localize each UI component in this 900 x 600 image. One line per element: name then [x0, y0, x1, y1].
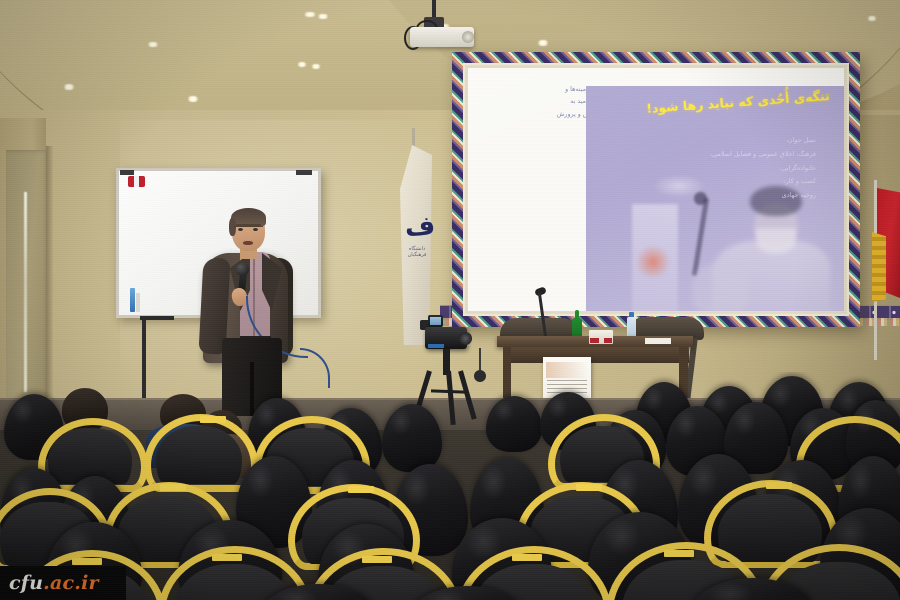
photograph-scene: دشمن در حال تقویت خود در این زمینه‌ها و … — [0, 0, 900, 600]
slide-list-item: نسل جوان، — [620, 134, 816, 148]
projection-screen: دشمن در حال تقویت خود در این زمینه‌ها و … — [468, 68, 844, 311]
slide-title: تنگه‌ی أُحُدی که نباید رها شود! — [630, 87, 831, 119]
ceiling-spotlight — [186, 96, 200, 102]
speaker-mouth — [243, 241, 253, 245]
watermark-primary: cfu — [9, 572, 43, 594]
presenter-table-skirt — [503, 347, 689, 363]
whiteboard-clip-left — [120, 170, 134, 175]
white-standing-banner — [400, 145, 432, 345]
slide-list-item: کسب و کار، — [620, 175, 816, 189]
tissue-box-label — [590, 338, 599, 343]
chair-label-tag — [200, 416, 226, 423]
camera-monitor-screen — [430, 317, 441, 325]
paper-on-table — [645, 338, 671, 344]
slide-figure-beard — [756, 228, 796, 254]
camera-blue-strip — [428, 344, 444, 348]
slide-flag-emblem — [636, 244, 670, 280]
chair-label-tag — [348, 486, 374, 493]
speaker-eye — [238, 228, 243, 231]
chair-label-tag — [766, 482, 792, 489]
camera-lens — [459, 332, 472, 345]
whiteboard-marker — [130, 288, 135, 312]
chair-label-tag — [512, 554, 542, 561]
watermark-secondary: .ac.ir — [43, 572, 99, 594]
slide-list-item: خانواده‌گرایی، — [620, 162, 816, 176]
ceiling-spotlight — [296, 62, 308, 67]
banner-logo: ف — [404, 209, 430, 244]
slide-figure-arm — [692, 264, 748, 311]
slide-list: نسل جوان، فرهنگ، اخلاق عمومی و فضایل اسل… — [620, 134, 816, 203]
audience-member — [486, 396, 542, 452]
chair-label-tag — [576, 484, 602, 491]
whiteboard-eraser — [136, 293, 140, 312]
whiteboard-sticker — [128, 176, 145, 187]
projector-lens — [462, 31, 474, 43]
ceiling-spotlight — [62, 84, 76, 90]
ceiling-spotlight — [310, 64, 322, 69]
tissue-box-label — [604, 338, 612, 343]
ceiling-spotlight — [536, 40, 550, 46]
slide-photo-panel: تنگه‌ی أُحُدی که نباید رها شود! نسل جوان… — [586, 86, 844, 311]
slide-list-item: فرهنگ، اخلاق عمومی و فضایل اسلامی، — [620, 148, 816, 162]
hanging-microphone-cord — [479, 348, 481, 372]
speaker-eye — [253, 228, 258, 231]
seated-audience — [0, 372, 900, 600]
whiteboard-clip-right — [296, 170, 312, 175]
banner-subtitle: دانشگاه فرهنگیان — [404, 246, 430, 258]
slide-list-item: روحیه جهادی — [620, 189, 816, 203]
chair-label-tag — [160, 484, 186, 491]
slide-microphone-stem — [692, 198, 709, 276]
chair-label-tag — [72, 558, 102, 565]
ceiling-spotlight — [146, 42, 160, 47]
watermark: cfu.ac.ir — [0, 566, 126, 600]
chair-label-tag — [212, 554, 242, 561]
wall-light-strip — [24, 192, 27, 392]
watermark-text: cfu.ac.ir — [0, 572, 99, 594]
chair-label-tag — [362, 556, 392, 563]
audience-member — [382, 404, 442, 472]
flag-gold-fringe — [872, 232, 886, 302]
ceiling-spotlight — [316, 14, 330, 19]
microphone-head — [236, 263, 249, 276]
chair-seat — [156, 426, 242, 484]
ceiling-spotlight — [866, 16, 878, 21]
chair-label-tag — [664, 550, 694, 557]
